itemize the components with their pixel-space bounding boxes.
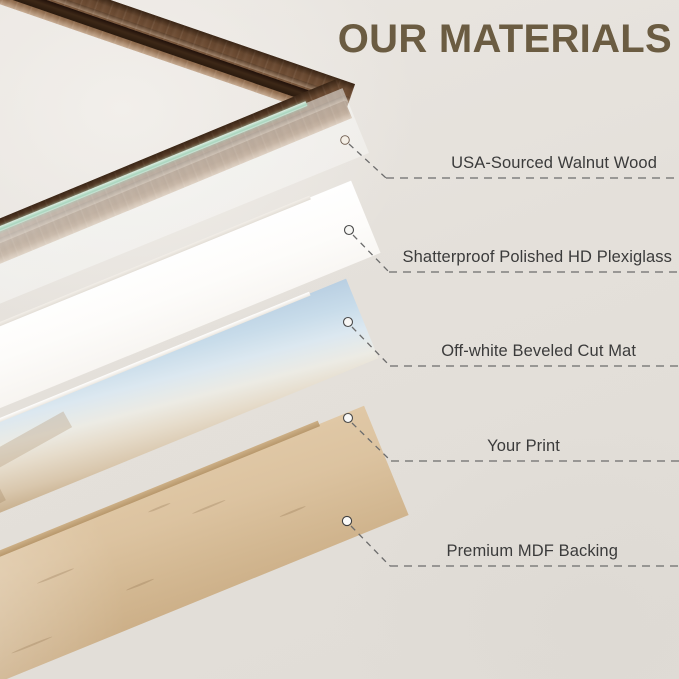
callout-label-plexiglass: Shatterproof Polished HD Plexiglass [403, 248, 672, 267]
callout-label-mat: Off-white Beveled Cut Mat [441, 342, 636, 361]
infographic-scene: OUR MATERIALS [0, 0, 679, 679]
callout-label-mdf-backing: Premium MDF Backing [446, 542, 618, 561]
callout-label-walnut-wood: USA-Sourced Walnut Wood [451, 154, 657, 173]
leader-lines [0, 0, 679, 679]
callout-group: USA-Sourced Walnut Wood Shatterproof Pol… [0, 0, 679, 679]
callout-label-print: Your Print [487, 437, 560, 456]
